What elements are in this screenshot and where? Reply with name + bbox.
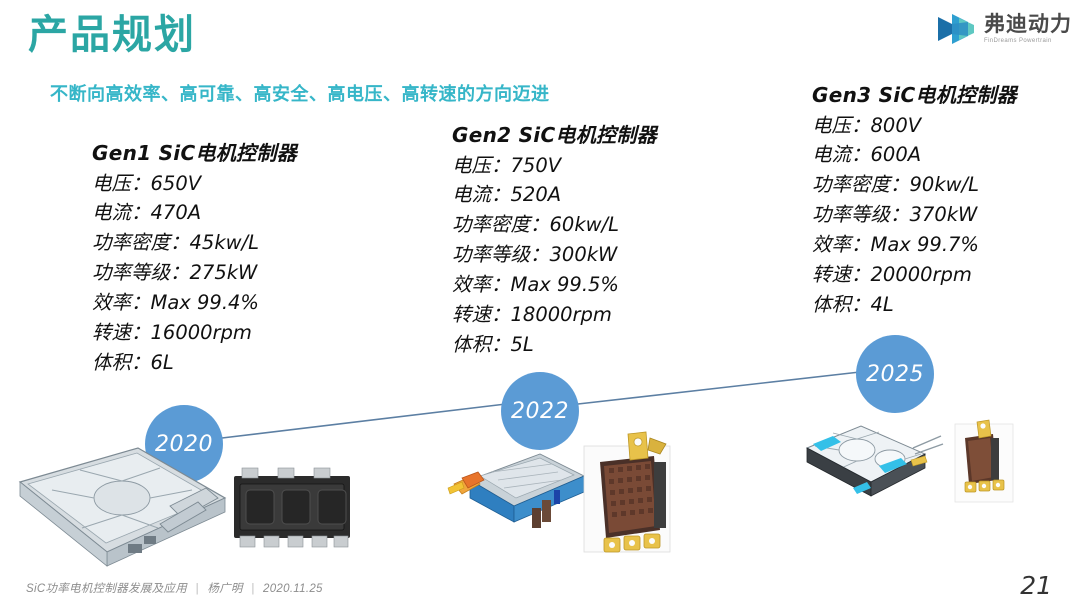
spec-volume-gen1: 体积：6L (92, 348, 297, 378)
logo-name-cn: 弗迪动力 (984, 14, 1072, 35)
spec-speed-gen1: 转速：16000rpm (92, 318, 297, 348)
spec-voltage-gen3: 电压：800V (812, 111, 1017, 141)
footer-separator-1: | (196, 583, 199, 595)
spec-heading-gen2: Gen2 SiC电机控制器 (452, 120, 657, 151)
spec-efficiency-gen2: 效率：Max 99.5% (452, 270, 657, 300)
spec-power-rating-gen1: 功率等级：275kW (92, 258, 297, 288)
spec-current-gen1: 电流：470A (92, 198, 297, 228)
spec-block-gen3: Gen3 SiC电机控制器 电压：800V 电流：600A 功率密度：90kw/… (812, 80, 1017, 319)
spec-efficiency-gen1: 效率：Max 99.4% (92, 288, 297, 318)
spec-current-gen2: 电流：520A (452, 180, 657, 210)
logo-name-en: FinDreams Powertrain (984, 38, 1072, 44)
spec-heading-gen3: Gen3 SiC电机控制器 (812, 80, 1017, 111)
slide-root: 产品规划 不断向高效率、高可靠、高安全、高电压、高转速的方向迈进 弗迪动力 Fi… (0, 0, 1080, 608)
year-bubble-2025[interactable]: 2025 (856, 335, 934, 413)
logo-text: 弗迪动力 FinDreams Powertrain (984, 14, 1072, 44)
spec-power-density-gen3: 功率密度：90kw/L (812, 170, 1017, 200)
spec-efficiency-gen3: 效率：Max 99.7% (812, 230, 1017, 260)
gen2-controller-cad-render (448, 454, 584, 528)
slide-subtitle: 不断向高效率、高可靠、高安全、高电压、高转速的方向迈进 (50, 80, 550, 106)
footer-separator-2: | (251, 583, 254, 595)
spec-power-density-gen2: 功率密度：60kw/L (452, 210, 657, 240)
spec-voltage-gen1: 电压：650V (92, 169, 297, 199)
footer-note: SiC功率电机控制器发展及应用 | 杨广明 | 2020.11.25 (26, 580, 323, 596)
footer-author: 杨广明 (207, 583, 242, 595)
brand-logo: 弗迪动力 FinDreams Powertrain (936, 8, 1072, 50)
product-images-gen1 (10, 440, 350, 580)
spec-block-gen1: Gen1 SiC电机控制器 电压：650V 电流：470A 功率密度：45kw/… (92, 138, 297, 377)
spec-current-gen3: 电流：600A (812, 140, 1017, 170)
spec-power-density-gen1: 功率密度：45kw/L (92, 228, 297, 258)
gen3-compact-power-module-render (955, 420, 1013, 502)
spec-voltage-gen2: 电压：750V (452, 151, 657, 181)
spec-heading-gen1: Gen1 SiC电机控制器 (92, 138, 297, 169)
spec-speed-gen3: 转速：20000rpm (812, 260, 1017, 290)
spec-block-gen2: Gen2 SiC电机控制器 电压：750V 电流：520A 功率密度：60kw/… (452, 120, 657, 359)
gen1-controller-housing-render (20, 448, 225, 566)
gen2-copper-power-module-render (584, 432, 670, 552)
page-title: 产品规划 (28, 12, 196, 58)
spec-power-rating-gen3: 功率等级：370kW (812, 200, 1017, 230)
product-images-gen2 (432, 418, 692, 568)
gen1-black-power-module-photo (234, 468, 350, 547)
spec-speed-gen2: 转速：18000rpm (452, 300, 657, 330)
fd-power-chevron-logo-icon (936, 8, 978, 50)
footer-date: 2020.11.25 (263, 583, 323, 595)
spec-volume-gen2: 体积：5L (452, 330, 657, 360)
page-number: 21 (1020, 571, 1052, 600)
spec-volume-gen3: 体积：4L (812, 290, 1017, 320)
footer-topic: SiC功率电机控制器发展及应用 (26, 583, 187, 595)
product-images-gen3 (795, 412, 1065, 532)
spec-power-rating-gen2: 功率等级：300kW (452, 240, 657, 270)
gen3-controller-cad-render (807, 426, 943, 496)
